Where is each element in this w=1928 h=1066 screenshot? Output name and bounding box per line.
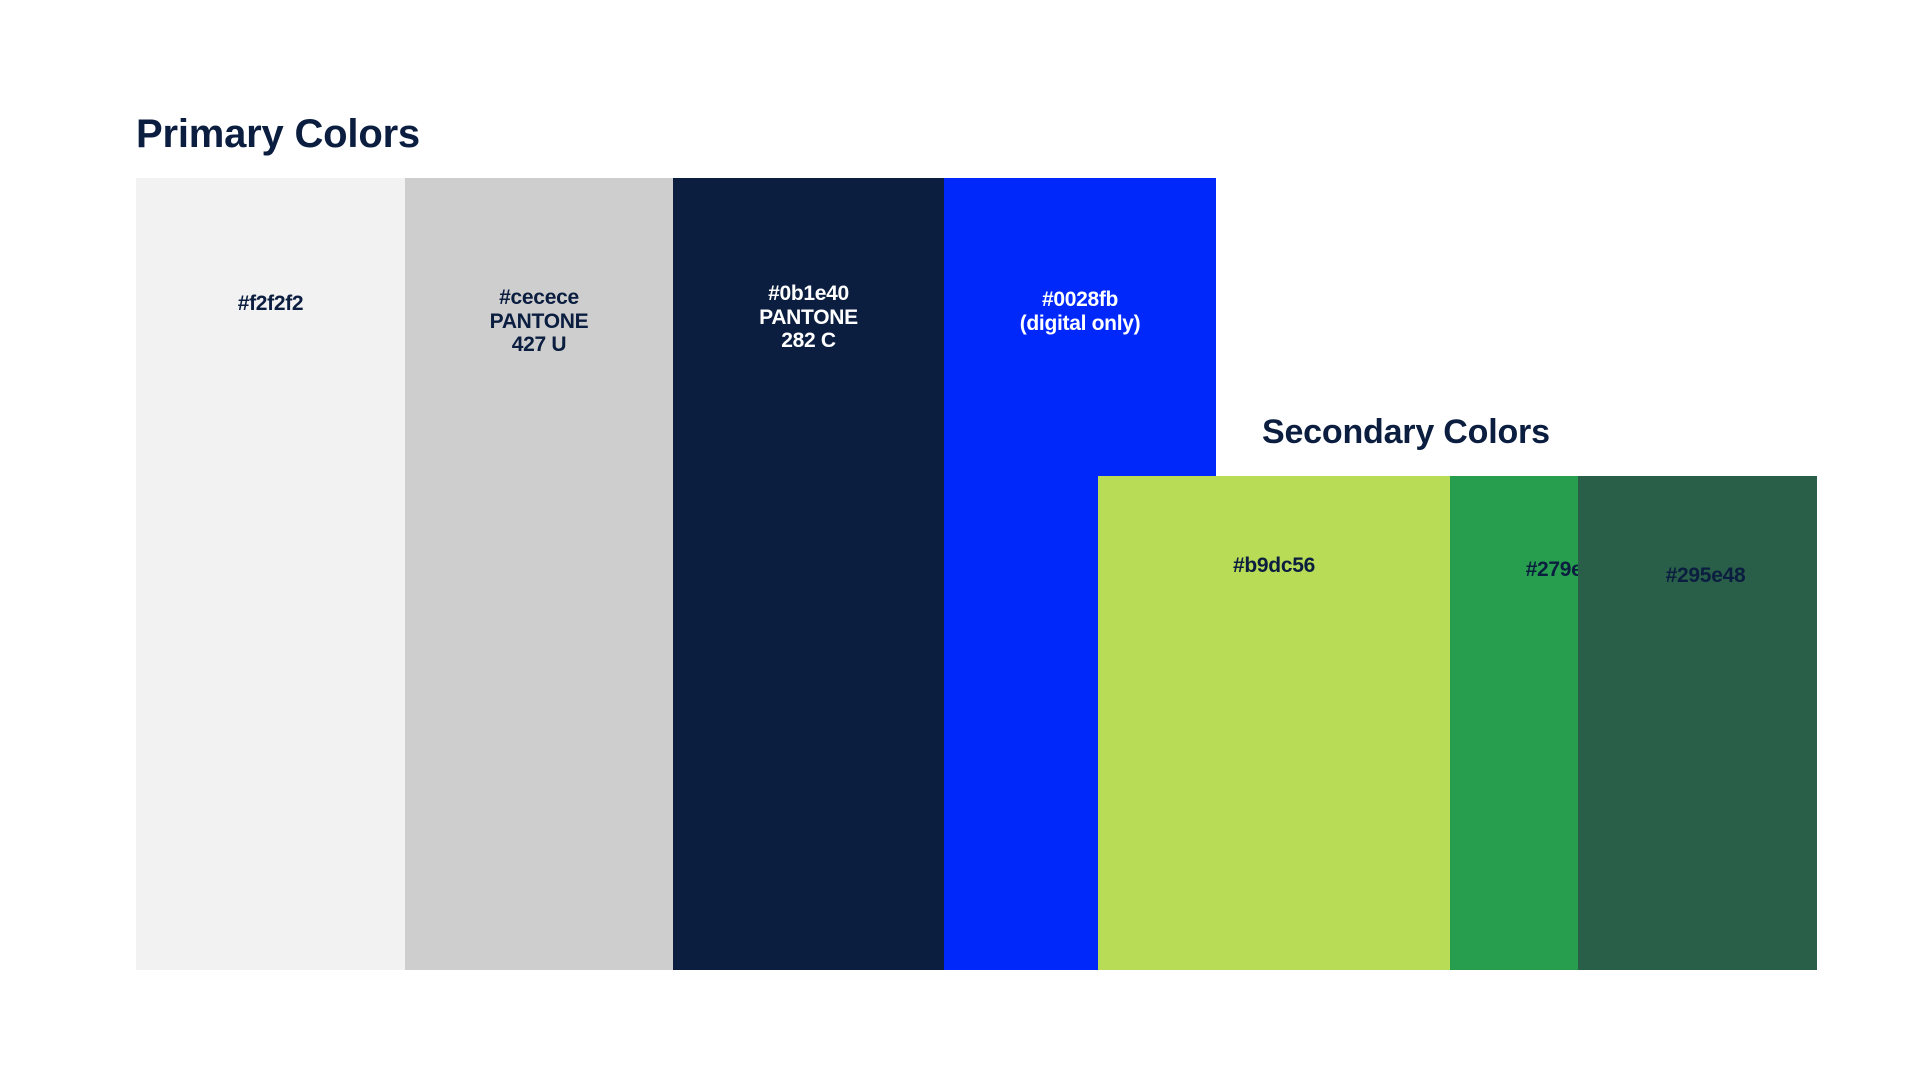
color-swatch-navy[interactable]: #0b1e40 PANTONE 282 C <box>673 178 944 970</box>
color-swatch-mid-gray[interactable]: #cecece PANTONE 427 U <box>405 178 673 970</box>
color-swatch-label: #295e48 <box>1578 564 1817 588</box>
color-swatch-label: #b9dc56 <box>1098 554 1450 578</box>
primary-colors-heading: Primary Colors <box>136 112 420 157</box>
secondary-colors-heading: Secondary Colors <box>1262 413 1550 452</box>
color-swatch-lime-green[interactable]: #b9dc56 <box>1098 476 1450 970</box>
primary-colors-swatch-group: #f2f2f2 #cecece PANTONE 427 U #0b1e40 PA… <box>136 178 1216 970</box>
secondary-colors-swatch-group: #b9dc56 #279e4d #295e48 <box>1098 476 1817 970</box>
color-swatch-light-gray[interactable]: #f2f2f2 <box>136 178 405 970</box>
color-palette-page: Primary Colors #f2f2f2 #cecece PANTONE 4… <box>0 0 1928 1066</box>
color-swatch-label: #f2f2f2 <box>136 292 405 316</box>
color-swatch-label: #0b1e40 PANTONE 282 C <box>673 282 944 353</box>
color-swatch-label: #cecece PANTONE 427 U <box>405 286 673 357</box>
color-swatch-label: #0028fb (digital only) <box>944 288 1216 335</box>
color-swatch-dark-green[interactable]: #295e48 <box>1578 476 1817 970</box>
